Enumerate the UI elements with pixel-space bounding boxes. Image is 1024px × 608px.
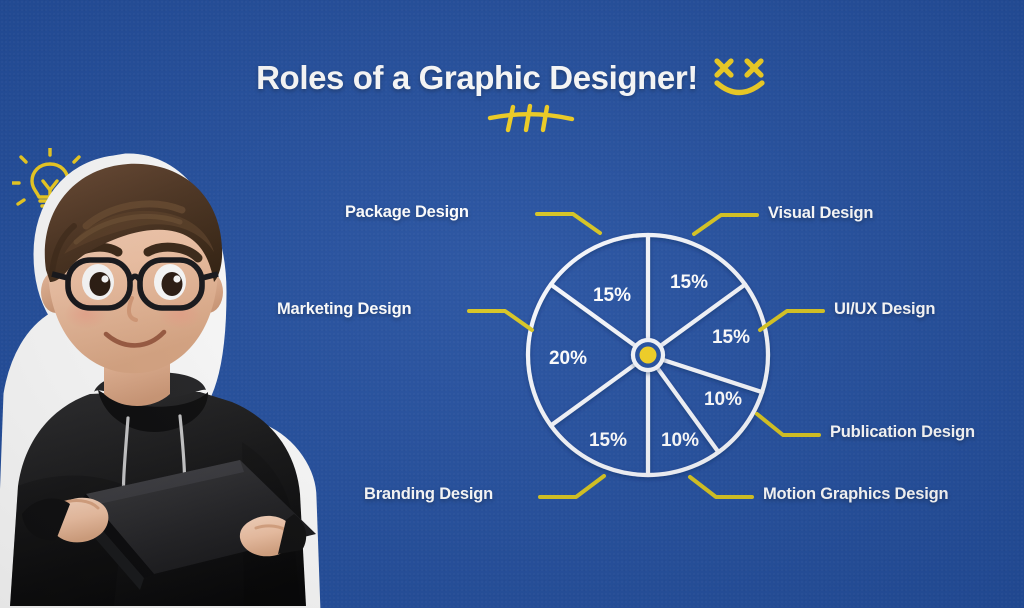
callout-label-publication: Publication Design [830, 423, 975, 442]
infographic-canvas: Roles of a Graphic Designer! [0, 0, 1024, 608]
hatched-underline-icon [486, 102, 576, 136]
slice-value-visual: 15% [670, 272, 708, 293]
callout-label-package: Package Design [345, 203, 469, 222]
callout-label-branding: Branding Design [364, 485, 493, 504]
pie-hub-dot [640, 347, 657, 364]
x-eyes-smiley-icon [712, 56, 768, 100]
slice-value-package: 15% [593, 285, 631, 306]
pie-spoke-2 [648, 355, 762, 392]
slice-value-marketing: 20% [549, 348, 587, 369]
slice-value-branding: 15% [589, 430, 627, 451]
callout-label-uiux: UI/UX Design [834, 300, 935, 319]
slice-value-uiux: 15% [712, 327, 750, 348]
callout-label-motion: Motion Graphics Design [763, 485, 948, 504]
pie-chart: 15% 15% 10% 10% 15% 20% 15% [508, 215, 788, 500]
pie-chart-svg: 15% 15% 10% 10% 15% 20% 15% [508, 215, 788, 495]
slice-value-publication: 10% [704, 389, 742, 410]
callout-label-visual: Visual Design [768, 204, 873, 223]
character-illustration [0, 142, 324, 608]
title-row: Roles of a Graphic Designer! [256, 56, 768, 100]
title-block: Roles of a Graphic Designer! [0, 56, 1024, 100]
slice-value-motion: 10% [661, 430, 699, 451]
page-title: Roles of a Graphic Designer! [256, 59, 698, 97]
